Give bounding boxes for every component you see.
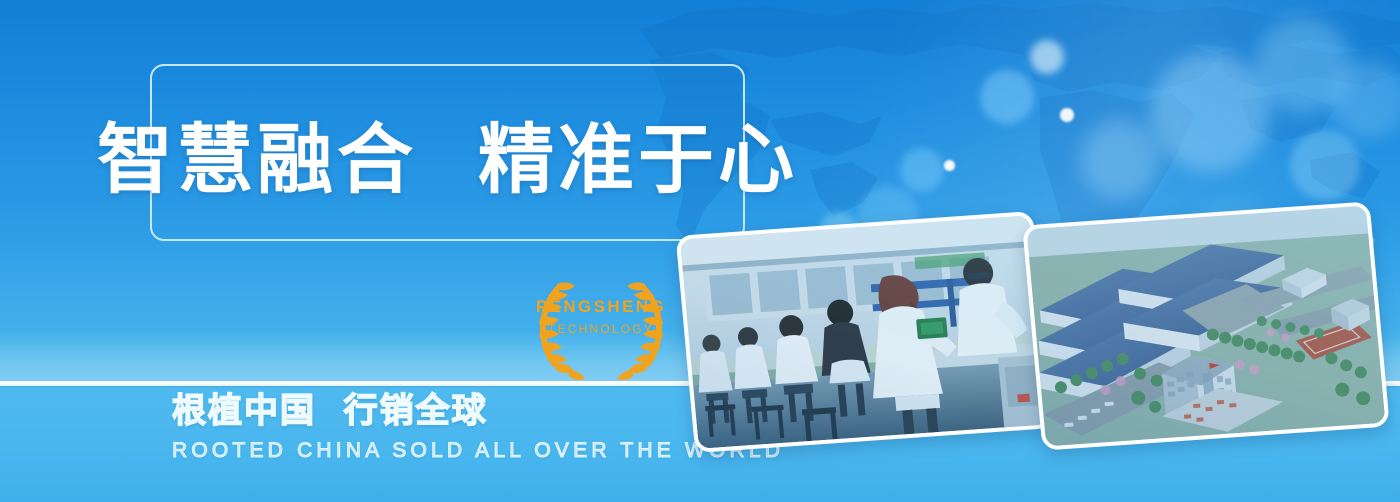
photo-factory-campus — [1022, 201, 1390, 450]
photo-collage — [660, 195, 1400, 485]
page-title: 智慧融合 精准于心 — [152, 66, 743, 239]
hero-banner: 智慧融合 精准于心 — [0, 0, 1400, 502]
photo-assembly-line — [676, 211, 1053, 453]
headline-frame: 智慧融合 精准于心 — [150, 64, 745, 241]
